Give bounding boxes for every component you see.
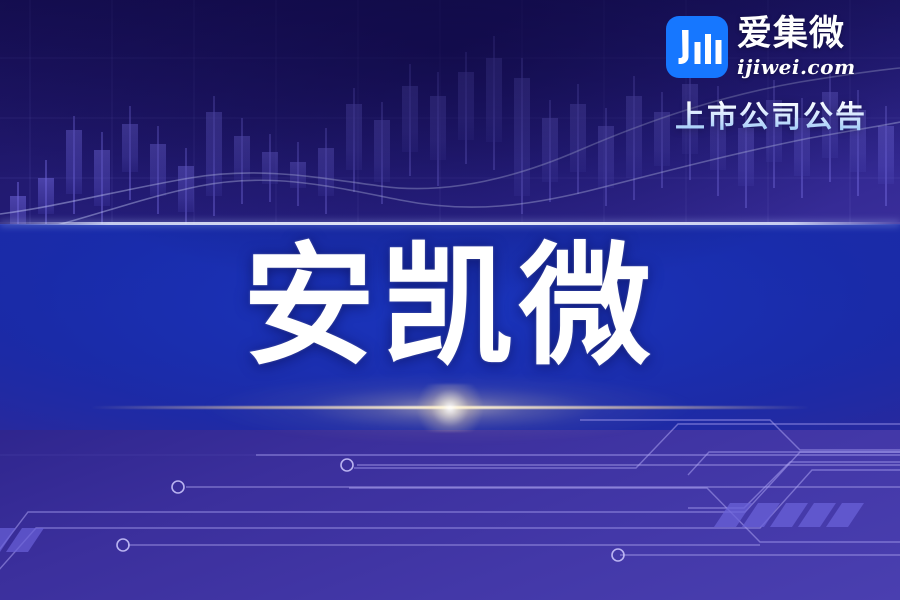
circuit-dash-group-left <box>0 528 44 552</box>
brand-block: 爱集微 ijiwei.com 上市公司公告 <box>666 16 876 136</box>
circuit-dash-group-right <box>714 503 864 527</box>
circuit-node-icon <box>341 459 353 471</box>
ijiwei-bars-logo-icon <box>666 16 728 78</box>
brand-name-en: ijiwei.com <box>737 57 856 77</box>
brand-name-cn: 爱集微 <box>737 17 856 52</box>
announcement-banner: 安凯微 爱集微 ijiwei.com 上市公司公告 <box>0 0 900 600</box>
brand-words: 爱集微 ijiwei.com <box>737 17 856 77</box>
circuit-node-icon <box>117 539 129 551</box>
brand-subtitle: 上市公司公告 <box>666 92 876 136</box>
circuit-node-icon <box>172 481 184 493</box>
page-title: 安凯微 <box>0 232 900 382</box>
brand-row: 爱集微 ijiwei.com <box>666 16 876 78</box>
